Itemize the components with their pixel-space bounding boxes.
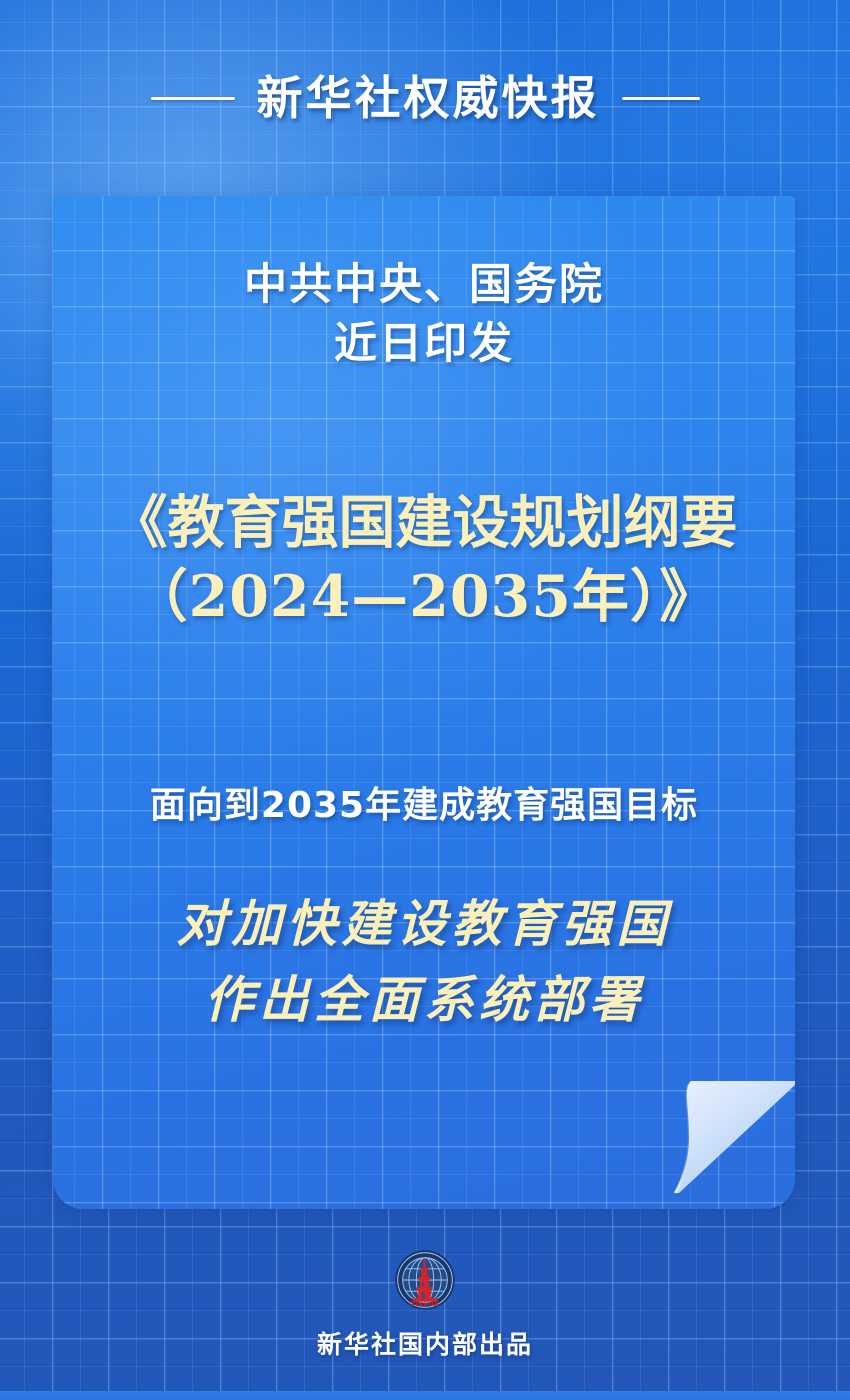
content-card: 中共中央、国务院 近日印发 《教育强国建设规划纲要 （2024—2035年）》 …	[53, 196, 795, 1209]
document-title-line-2: （2024—2035年）》	[53, 560, 795, 634]
document-title: 《教育强国建设规划纲要 （2024—2035年）》	[53, 486, 795, 634]
lead-line-1: 中共中央、国务院	[53, 256, 795, 315]
footer-text: 新华社国内部出品	[317, 1325, 533, 1361]
header-title: 新华社权威快报	[257, 75, 600, 121]
header-banner: 新华社权威快报	[0, 0, 850, 196]
goal-statement: 面向到2035年建成教育强国目标	[53, 776, 795, 828]
header-rule-right-icon	[622, 97, 700, 100]
lead-line-2: 近日印发	[53, 315, 795, 374]
brush-line-2: 作出全面系统部署	[53, 962, 795, 1038]
bottom-accent-strip	[0, 1391, 850, 1400]
document-title-line-1: 《教育强国建设规划纲要	[53, 486, 795, 560]
brush-statement: 对加快建设教育强国 作出全面系统部署	[53, 886, 795, 1038]
card-inner: 中共中央、国务院 近日印发 《教育强国建设规划纲要 （2024—2035年）》 …	[53, 196, 795, 1209]
footer: XINHUA 新华社国内部出品	[0, 1209, 850, 1400]
logo-wordmark: XINHUA	[411, 1302, 440, 1308]
header-rule-left-icon	[151, 97, 235, 100]
page-curl-icon	[673, 1079, 795, 1195]
xinhua-logo: XINHUA	[394, 1249, 456, 1311]
lead-statement: 中共中央、国务院 近日印发	[53, 256, 795, 375]
poster-root: 新华社权威快报 中共中央、国务院 近日印发 《教育强国建设规划纲要 （2024—…	[0, 0, 850, 1400]
brush-line-1: 对加快建设教育强国	[53, 886, 795, 962]
